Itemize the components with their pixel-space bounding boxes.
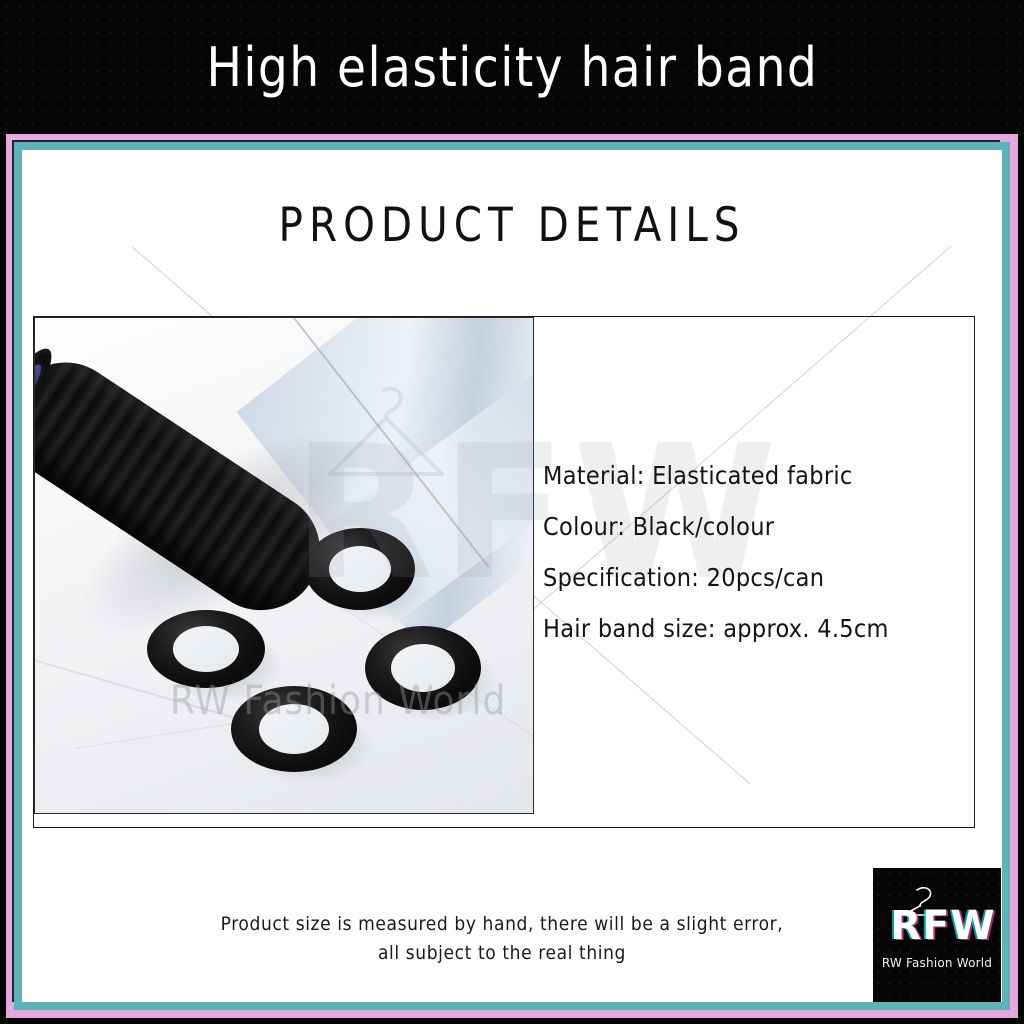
spec-colour: Colour: Black/colour bbox=[543, 501, 963, 552]
page-title: PRODUCT DETAILS bbox=[22, 197, 1002, 253]
product-detail-page: High elasticity hair band PRODUCT DETAIL… bbox=[0, 0, 1024, 1024]
logo-wordmark: RFW bbox=[873, 903, 1001, 949]
content-canvas: PRODUCT DETAILS bbox=[22, 150, 1002, 1002]
brand-logo: RFW RW Fashion World bbox=[873, 868, 1001, 1002]
disclaimer-line-1: Product size is measured by hand, there … bbox=[142, 910, 862, 939]
ring-hole bbox=[329, 546, 391, 592]
header-banner: High elasticity hair band bbox=[0, 0, 1024, 134]
ring-hole bbox=[391, 644, 455, 692]
product-photo bbox=[34, 317, 534, 814]
spec-material: Material: Elasticated fabric bbox=[543, 450, 963, 501]
hair-band-ring bbox=[305, 528, 415, 610]
logo-tagline: RW Fashion World bbox=[873, 956, 1001, 970]
header-title: High elasticity hair band bbox=[206, 36, 818, 99]
disclaimer: Product size is measured by hand, there … bbox=[142, 910, 862, 968]
spec-specification: Specification: 20pcs/can bbox=[543, 552, 963, 603]
specification-list: Material: Elasticated fabric Colour: Bla… bbox=[543, 450, 963, 654]
ring-hole bbox=[173, 626, 239, 672]
disclaimer-line-2: all subject to the real thing bbox=[142, 939, 862, 968]
spec-size: Hair band size: approx. 4.5cm bbox=[543, 603, 963, 654]
hair-band-ring bbox=[365, 626, 481, 710]
hair-band-ring bbox=[147, 610, 265, 688]
ring-hole bbox=[259, 704, 329, 754]
hair-band-ring bbox=[231, 686, 357, 772]
